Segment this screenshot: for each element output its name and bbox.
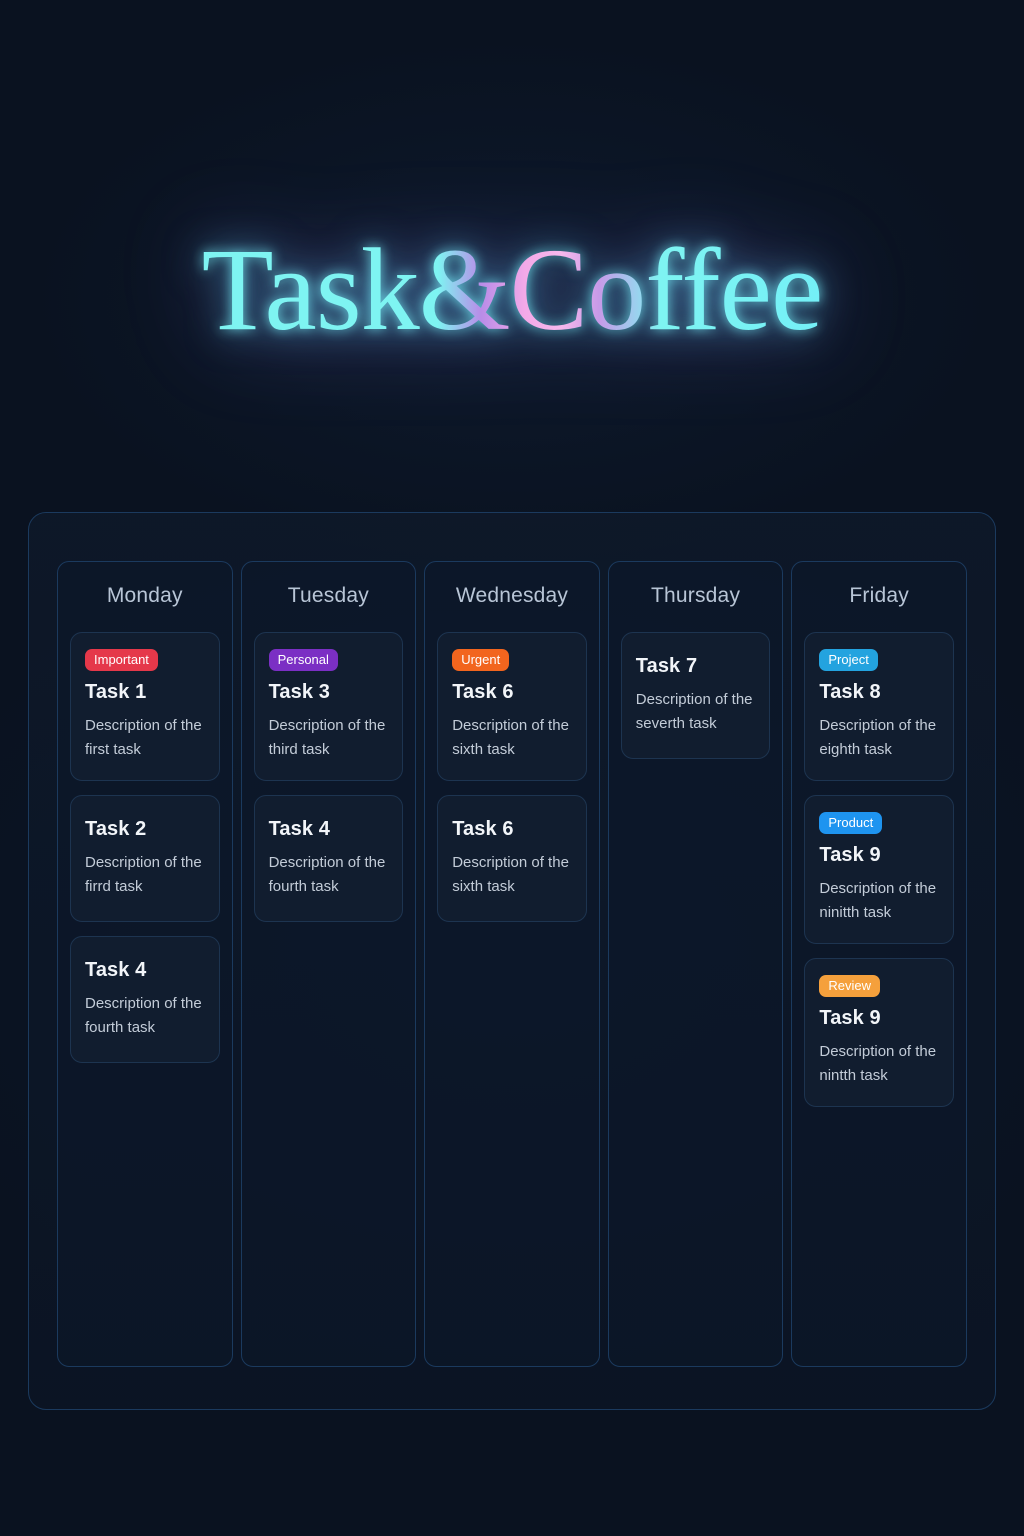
task-card[interactable]: UrgentTask 6Description of the sixth tas… xyxy=(437,632,587,781)
task-card[interactable]: ProjectTask 8Description of the eighth t… xyxy=(804,632,954,781)
task-title: Task 4 xyxy=(269,818,389,841)
task-badge[interactable]: Product xyxy=(819,812,882,834)
task-card[interactable]: ProductTask 9Description of the ninitth … xyxy=(804,795,954,944)
task-card[interactable]: Task 6Description of the sixth task xyxy=(437,795,587,922)
task-description: Description of the third task xyxy=(269,714,389,762)
task-title: Task 7 xyxy=(636,655,756,678)
day-column-monday[interactable]: MondayImportantTask 1Description of the … xyxy=(57,561,233,1367)
task-title: Task 9 xyxy=(819,844,939,867)
day-header: Wednesday xyxy=(437,584,587,608)
task-description: Description of the nintth task xyxy=(819,1040,939,1088)
task-title: Task 1 xyxy=(85,681,205,704)
task-title: Task 6 xyxy=(452,818,572,841)
app-title-container: Task&Coffee xyxy=(0,228,1024,352)
task-card[interactable]: ImportantTask 1Description of the first … xyxy=(70,632,220,781)
task-title: Task 2 xyxy=(85,818,205,841)
task-badge[interactable]: Personal xyxy=(269,649,338,671)
day-column-wednesday[interactable]: WednesdayUrgentTask 6Description of the … xyxy=(424,561,600,1367)
task-badge[interactable]: Important xyxy=(85,649,158,671)
task-card[interactable]: Task 2Description of the firrd task xyxy=(70,795,220,922)
task-title: Task 8 xyxy=(819,681,939,704)
day-column-tuesday[interactable]: TuesdayPersonalTask 3Description of the … xyxy=(241,561,417,1367)
task-card[interactable]: Task 7Description of the severth task xyxy=(621,632,771,759)
task-description: Description of the sixth task xyxy=(452,851,572,899)
app-title: Task&Coffee xyxy=(202,228,823,352)
task-badge[interactable]: Project xyxy=(819,649,877,671)
task-badge[interactable]: Review xyxy=(819,975,880,997)
task-card[interactable]: Task 4Description of the fourth task xyxy=(254,795,404,922)
task-description: Description of the severth task xyxy=(636,688,756,736)
task-card[interactable]: PersonalTask 3Description of the third t… xyxy=(254,632,404,781)
day-header: Thursday xyxy=(621,584,771,608)
task-badge[interactable]: Urgent xyxy=(452,649,509,671)
task-description: Description of the ninitth task xyxy=(819,877,939,925)
day-column-thursday[interactable]: ThursdayTask 7Description of the severth… xyxy=(608,561,784,1367)
day-header: Tuesday xyxy=(254,584,404,608)
task-description: Description of the fourth task xyxy=(85,992,205,1040)
task-title: Task 9 xyxy=(819,1007,939,1030)
task-title: Task 6 xyxy=(452,681,572,704)
day-column-friday[interactable]: FridayProjectTask 8Description of the ei… xyxy=(791,561,967,1367)
task-description: Description of the sixth task xyxy=(452,714,572,762)
task-description: Description of the fourth task xyxy=(269,851,389,899)
task-card[interactable]: Task 4Description of the fourth task xyxy=(70,936,220,1063)
task-description: Description of the firrd task xyxy=(85,851,205,899)
task-description: Description of the first task xyxy=(85,714,205,762)
task-title: Task 4 xyxy=(85,959,205,982)
weekly-task-board: MondayImportantTask 1Description of the … xyxy=(28,512,996,1410)
task-card[interactable]: ReviewTask 9Description of the nintth ta… xyxy=(804,958,954,1107)
task-description: Description of the eighth task xyxy=(819,714,939,762)
task-title: Task 3 xyxy=(269,681,389,704)
day-header: Monday xyxy=(70,584,220,608)
day-header: Friday xyxy=(804,584,954,608)
